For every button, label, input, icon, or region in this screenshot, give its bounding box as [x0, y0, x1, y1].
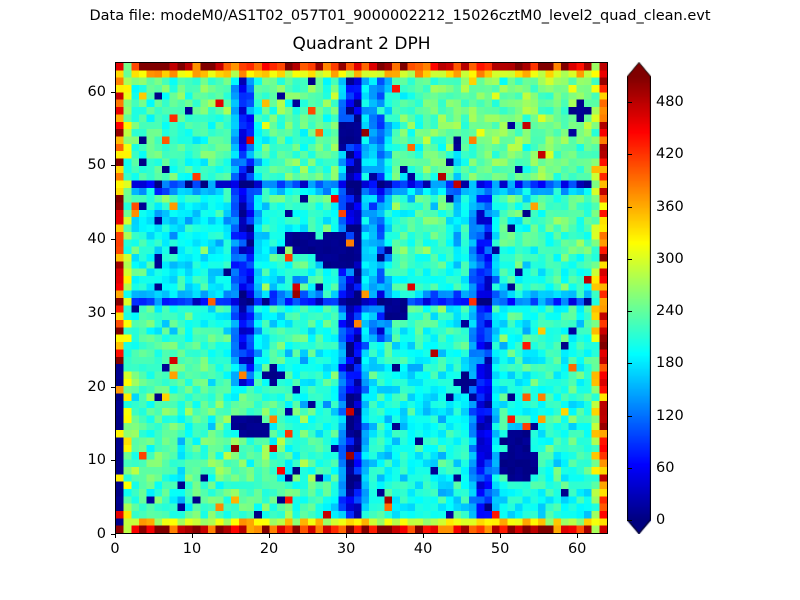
y-tick-mark	[111, 92, 115, 93]
y-tick-label: 40	[58, 230, 106, 248]
colorbar-tick-label: 420	[656, 145, 684, 163]
colorbar-tick-label: 60	[656, 459, 674, 477]
colorbar-tick-label: 240	[656, 302, 684, 320]
x-tick-mark	[423, 534, 424, 538]
detector-heatmap-image	[116, 63, 607, 533]
y-tick-label: 30	[58, 304, 106, 322]
y-tick-mark	[111, 313, 115, 314]
colorbar-tick-mark	[627, 363, 632, 364]
colorbar-tick-mark	[627, 207, 632, 208]
x-tick-label: 60	[547, 540, 607, 558]
colorbar-tick-mark	[627, 102, 632, 103]
y-tick-label: 10	[58, 451, 106, 469]
colorbar-tick-mark	[627, 468, 632, 469]
y-tick-label: 50	[58, 156, 106, 174]
x-tick-label: 50	[470, 540, 530, 558]
y-tick-mark	[111, 534, 115, 535]
colorbar-tick-mark	[627, 520, 632, 521]
x-tick-label: 40	[393, 540, 453, 558]
y-tick-mark	[111, 387, 115, 388]
colorbar-tick-mark	[627, 311, 632, 312]
colorbar-tick-label: 360	[656, 198, 684, 216]
x-tick-mark	[500, 534, 501, 538]
y-tick-mark	[111, 460, 115, 461]
y-tick-mark	[111, 239, 115, 240]
figure-canvas: Data file: modeM0/AS1T02_057T01_90000022…	[0, 0, 800, 600]
colorbar[interactable]	[627, 62, 651, 534]
x-tick-mark	[577, 534, 578, 538]
heatmap-axes[interactable]	[115, 62, 608, 534]
x-tick-label: 20	[239, 540, 299, 558]
colorbar-tick-mark	[627, 259, 632, 260]
y-tick-label: 20	[58, 378, 106, 396]
colorbar-tick-mark	[627, 416, 632, 417]
colorbar-tick-mark	[627, 154, 632, 155]
x-tick-label: 10	[162, 540, 222, 558]
x-tick-mark	[269, 534, 270, 538]
page-title: Quadrant 2 DPH	[115, 33, 608, 55]
x-tick-mark	[346, 534, 347, 538]
colorbar-tick-label: 0	[656, 511, 665, 529]
y-tick-label: 0	[58, 525, 106, 543]
y-tick-label: 60	[58, 83, 106, 101]
colorbar-tick-label: 120	[656, 407, 684, 425]
x-tick-label: 30	[316, 540, 376, 558]
colorbar-gradient	[627, 62, 651, 534]
x-tick-mark	[192, 534, 193, 538]
x-tick-mark	[115, 534, 116, 538]
data-file-suptitle: Data file: modeM0/AS1T02_057T01_90000022…	[0, 7, 800, 25]
colorbar-tick-label: 300	[656, 250, 684, 268]
colorbar-tick-label: 180	[656, 354, 684, 372]
colorbar-tick-label: 480	[656, 93, 684, 111]
y-tick-mark	[111, 165, 115, 166]
